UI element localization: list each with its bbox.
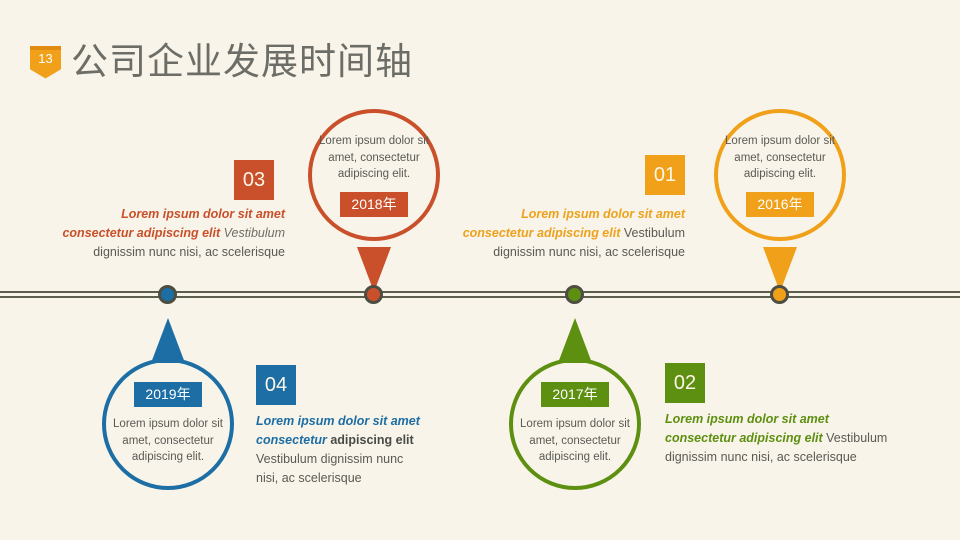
bubble-item-01[interactable]: Lorem ipsum dolor sit amet, consectetur … [714, 109, 846, 241]
description-item-01: Lorem ipsum dolor sit amet consectetur a… [455, 205, 685, 262]
axis-line-top [0, 291, 960, 293]
bubble-item-02[interactable]: 2017年 Lorem ipsum dolor sit amet, consec… [509, 358, 641, 490]
description-item-02: Lorem ipsum dolor sit amet consectetur a… [665, 410, 900, 467]
timeline-axis [0, 291, 960, 298]
number-box-item-02: 02 [665, 363, 705, 403]
year-chip-item-01: 2016年 [746, 192, 813, 217]
number-box-item-04: 04 [256, 365, 296, 405]
pointer-item-02 [558, 318, 592, 363]
slide-number-badge: 13 [30, 46, 61, 79]
description-item-03: Lorem ipsum dolor sit amet consectetur a… [50, 205, 285, 262]
bubble-text-item-04: Lorem ipsum dolor sit amet, consectetur … [102, 416, 234, 466]
description-highlight-item-02: Lorem ipsum dolor sit amet consectetur a… [665, 412, 829, 445]
description-item-04: Lorem ipsum dolor sit amet consectetur a… [256, 412, 421, 488]
badge-number-label: 13 [30, 49, 61, 69]
description-strong-item-04: adipiscing elit [327, 433, 414, 447]
bubble-item-04[interactable]: 2019年 Lorem ipsum dolor sit amet, consec… [102, 358, 234, 490]
description-mid-item-03: Vestibulum [220, 226, 285, 240]
bubble-text-item-01: Lorem ipsum dolor sit amet, consectetur … [714, 133, 846, 183]
number-box-item-01: 01 [645, 155, 685, 195]
slide-canvas: 13 公司企业发展时间轴 Lorem ipsum dolor sit amet,… [0, 0, 960, 540]
timeline-dot-item-02[interactable] [565, 285, 584, 304]
bubble-item-03[interactable]: Lorem ipsum dolor sit amet, consectetur … [308, 109, 440, 241]
bubble-text-item-03: Lorem ipsum dolor sit amet, consectetur … [308, 133, 440, 183]
axis-line-bottom [0, 296, 960, 298]
year-chip-item-03: 2018年 [340, 192, 407, 217]
timeline-dot-item-04[interactable] [158, 285, 177, 304]
pointer-item-04 [151, 318, 185, 363]
description-rest-item-04: Vestibulum dignissim nunc nisi, ac scele… [256, 452, 403, 485]
description-rest-item-03: dignissim nunc nisi, ac scelerisque [93, 245, 285, 259]
number-box-item-03: 03 [234, 160, 274, 200]
timeline-dot-item-03[interactable] [364, 285, 383, 304]
page-header: 13 公司企业发展时间轴 [30, 36, 413, 88]
page-title: 公司企业发展时间轴 [71, 40, 413, 84]
timeline-dot-item-01[interactable] [770, 285, 789, 304]
bubble-text-item-02: Lorem ipsum dolor sit amet, consectetur … [509, 416, 641, 466]
year-chip-item-04: 2019年 [134, 382, 201, 407]
year-chip-item-02: 2017年 [541, 382, 608, 407]
